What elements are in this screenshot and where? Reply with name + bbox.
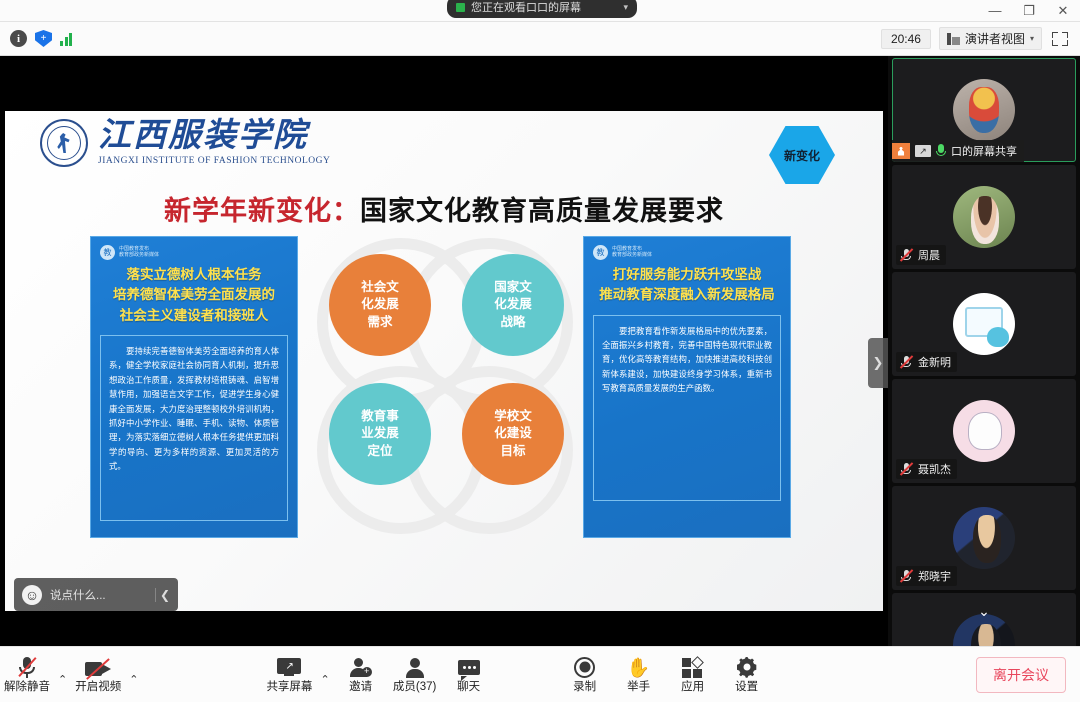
people-icon — [404, 656, 426, 678]
toolbar-left-group: i + — [10, 30, 72, 47]
mic-muted-icon — [899, 248, 913, 262]
chevron-down-icon[interactable]: ▾ — [1030, 34, 1034, 43]
chat-collapse-icon[interactable]: ❮ — [155, 588, 170, 602]
status-badge: 金新明 — [896, 352, 957, 372]
participant-name: 周晨 — [918, 247, 940, 263]
apps-button-label: 应用 — [681, 682, 704, 694]
share-screen-icon: ↗ — [277, 656, 301, 678]
chat-input-placeholder[interactable]: 说点什么... — [50, 587, 147, 603]
video-button[interactable]: 开启视频 — [71, 647, 125, 702]
mic-muted-icon — [17, 656, 37, 678]
diagram-circle-school-goal: 学校文 化建设 目标 — [462, 383, 564, 485]
close-button[interactable]: ✕ — [1046, 0, 1080, 22]
mic-muted-icon — [899, 355, 913, 369]
participant-name: 聂凯杰 — [918, 461, 951, 477]
camera-off-icon — [85, 656, 111, 678]
share-screen-button[interactable]: ↗ 共享屏幕 — [262, 647, 316, 702]
policy-source-right-label: 中国教育发布 教育部政务新媒体 — [612, 247, 652, 259]
invite-person-icon: + — [350, 656, 372, 678]
school-name-en: JIANGXI INSTITUTE OF FASHION TECHNOLOGY — [98, 156, 330, 166]
slide-title-prefix: 新学年新变化： — [164, 196, 360, 226]
gear-icon — [736, 656, 757, 678]
screen-share-notice[interactable]: 您正在观看口口的屏幕 ▾ — [447, 0, 637, 18]
participant-name: 金新明 — [918, 354, 951, 370]
participant-tile[interactable]: 郑晓宇 — [892, 486, 1076, 590]
mute-button[interactable]: 解除静音 — [0, 647, 54, 702]
participant-tile-sharing[interactable]: 口的屏幕共享 — [892, 58, 1076, 162]
invite-button[interactable]: + 邀请 — [334, 647, 388, 702]
school-name-cn: 江西服装学院 — [98, 120, 330, 153]
leave-meeting-button[interactable]: 离开会议 — [976, 657, 1066, 693]
chat-button[interactable]: 聊天 — [442, 647, 496, 702]
record-button-label: 录制 — [573, 682, 596, 694]
apps-button[interactable]: 应用 — [666, 647, 720, 702]
avatar — [953, 186, 1015, 248]
participant-rail[interactable]: 口的屏幕共享 周晨 金新明 聂凯杰 — [888, 56, 1080, 646]
participant-tile[interactable]: 聂凯杰 — [892, 379, 1076, 483]
policy-source-left-label: 中国教育发布 教育部政务新媒体 — [119, 247, 159, 259]
screen-share-indicator-icon — [456, 3, 465, 12]
participant-tile[interactable]: 金新明 — [892, 272, 1076, 376]
fullscreen-icon[interactable] — [1050, 29, 1070, 49]
participant-scroll-down-button[interactable]: ⌄ — [973, 600, 995, 622]
view-mode-selector[interactable]: 演讲者视图 ▾ — [939, 27, 1042, 50]
mic-active-icon — [936, 144, 946, 158]
culture-diagram: 社会文 化发展 需求 国家文 化发展 战略 教育事 业发展 定位 学校文 化建设… — [317, 236, 573, 536]
meeting-clock: 20:46 — [881, 29, 931, 49]
slide-title-main: 国家文化教育高质量发展要求 — [360, 196, 724, 226]
members-button-label: 成员(37) — [393, 682, 436, 694]
toolbar-right-group: 20:46 演讲者视图 ▾ — [881, 27, 1070, 50]
record-icon — [574, 656, 595, 678]
chevron-down-icon[interactable]: ▾ — [623, 2, 628, 13]
status-badge: 聂凯杰 — [896, 459, 957, 479]
school-seal-icon — [40, 119, 88, 167]
moe-logo-icon: 教 — [100, 245, 115, 260]
mic-muted-icon — [899, 462, 913, 476]
video-options-chevron-icon[interactable]: ⌃ — [125, 673, 142, 686]
diagram-circle-social-demand: 社会文 化发展 需求 — [329, 254, 431, 356]
slide-title: 新学年新变化：国家文化教育高质量发展要求 — [5, 189, 883, 228]
maximize-button[interactable]: ❐ — [1012, 0, 1046, 22]
chat-bubble-icon — [458, 656, 480, 678]
host-icon — [892, 143, 910, 159]
screen-share-icon — [915, 145, 931, 157]
diagram-circle-education-position: 教育事 业发展 定位 — [329, 383, 431, 485]
policy-box-right-body: 要把教育看作新发展格局中的优先要素，全面振兴乡村教育，完善中国特色现代职业教育，… — [593, 315, 781, 501]
screen-share-notice-label: 您正在观看口口的屏幕 — [471, 0, 581, 15]
hand-icon: ✋ — [627, 656, 651, 678]
policy-box-right: 教 中国教育发布 教育部政务新媒体 打好服务能力跃升攻坚战 推动教育深度融入新发… — [583, 236, 791, 538]
raise-hand-button[interactable]: ✋ 举手 — [612, 647, 666, 702]
apps-grid-icon — [682, 656, 704, 678]
chat-button-label: 聊天 — [457, 682, 480, 694]
settings-button-label: 设置 — [735, 682, 758, 694]
policy-box-right-heading: 打好服务能力跃升攻坚战 推动教育深度融入新发展格局 — [593, 265, 781, 306]
status-badge: 郑晓宇 — [896, 566, 957, 586]
moe-logo-icon: 教 — [593, 245, 608, 260]
policy-box-left: 教 中国教育发布 教育部政务新媒体 落实立德树人根本任务 培养德智体美劳全面发展… — [90, 236, 298, 538]
policy-source-left: 教 中国教育发布 教育部政务新媒体 — [100, 245, 288, 260]
members-button[interactable]: 成员(37) — [388, 647, 442, 702]
chat-input-bar[interactable]: ☺ 说点什么... ❮ — [14, 578, 178, 611]
avatar — [953, 79, 1015, 141]
video-button-label: 开启视频 — [75, 682, 121, 694]
participant-name: 口的屏幕共享 — [951, 143, 1017, 159]
new-change-badge: 新变化 — [769, 126, 835, 184]
shield-icon[interactable]: + — [35, 30, 52, 47]
avatar — [953, 293, 1015, 355]
settings-button[interactable]: 设置 — [720, 647, 774, 702]
policy-source-right: 教 中国教育发布 教育部政务新媒体 — [593, 245, 781, 260]
mute-button-label: 解除静音 — [4, 682, 50, 694]
diagram-circle-national-strategy: 国家文 化发展 战略 — [462, 254, 564, 356]
mic-muted-icon — [899, 569, 913, 583]
invite-button-label: 邀请 — [349, 682, 372, 694]
meeting-toolbar: i + 20:46 演讲者视图 ▾ — [0, 22, 1080, 56]
info-icon[interactable]: i — [10, 30, 27, 47]
status-badge: 周晨 — [896, 245, 946, 265]
policy-box-left-body: 要持续完善德智体美劳全面培养的育人体系，健全学校家庭社会协同育人机制，提升思想政… — [100, 335, 288, 521]
audio-options-chevron-icon[interactable]: ⌃ — [54, 673, 71, 686]
shared-screen-stage[interactable]: 江西服装学院 JIANGXI INSTITUTE OF FASHION TECH… — [0, 56, 888, 646]
record-button[interactable]: 录制 — [558, 647, 612, 702]
speaker-view-icon — [947, 33, 960, 45]
view-mode-label: 演讲者视图 — [965, 30, 1025, 47]
share-screen-button-label: 共享屏幕 — [266, 682, 312, 694]
participant-tile[interactable]: 周晨 — [892, 165, 1076, 269]
presentation-slide: 江西服装学院 JIANGXI INSTITUTE OF FASHION TECH… — [5, 111, 883, 611]
signal-strength-icon[interactable] — [60, 32, 72, 46]
meeting-controls-bar: 解除静音 ⌃ 开启视频 ⌃ ↗ 共享屏幕 ⌃ + 邀请 — [0, 646, 1080, 702]
status-badge: 口的屏幕共享 — [892, 140, 1024, 162]
panel-expand-tab[interactable]: ❯ — [868, 338, 888, 388]
avatar — [953, 507, 1015, 569]
school-logo: 江西服装学院 JIANGXI INSTITUTE OF FASHION TECH… — [40, 119, 330, 167]
policy-box-left-heading: 落实立德树人根本任务 培养德智体美劳全面发展的 社会主义建设者和接班人 — [100, 265, 288, 326]
avatar — [953, 400, 1015, 462]
meeting-window: — ❐ ✕ 您正在观看口口的屏幕 ▾ i + 20:46 演讲者视图 ▾ — [0, 0, 1080, 702]
raise-hand-button-label: 举手 — [627, 682, 650, 694]
share-options-chevron-icon[interactable]: ⌃ — [316, 673, 333, 686]
participant-name: 郑晓宇 — [918, 568, 951, 584]
emoji-icon[interactable]: ☺ — [22, 585, 42, 605]
minimize-button[interactable]: — — [978, 0, 1012, 22]
